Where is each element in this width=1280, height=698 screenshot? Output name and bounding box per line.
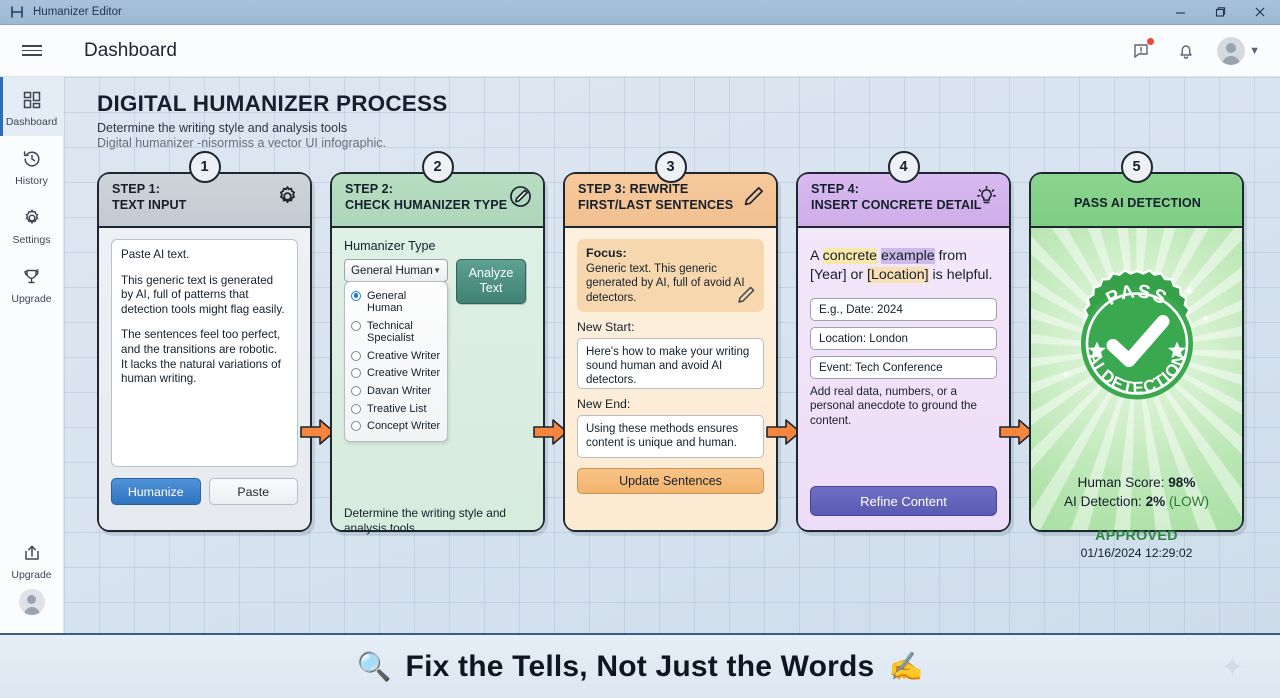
analyze-text-button[interactable]: Analyze Text xyxy=(456,259,526,304)
step-number-badge: 5 xyxy=(1121,151,1153,183)
sparkle-icon: ✦ xyxy=(1221,650,1244,683)
step-card-4: 4 STEP 4: INSERT CONCRETE DETAIL A concr… xyxy=(796,172,1011,532)
para-part: is helpful. xyxy=(929,267,993,283)
approval-block: APPROVED 01/16/2024 12:29:02 xyxy=(1031,528,1242,560)
radio-label: Treative List xyxy=(367,403,427,416)
window-title: Humanizer Editor xyxy=(33,6,122,18)
step-card-2: 2 STEP 2: CHECK HUMANIZER TYPE Humanizer… xyxy=(330,172,545,532)
input-line: The sentences feel too perfect, and the … xyxy=(121,328,280,356)
detail-field-date[interactable]: E.g., Date: 2024 xyxy=(810,298,997,321)
hamburger-icon[interactable] xyxy=(0,25,64,77)
pencil-icon[interactable] xyxy=(741,184,767,210)
focus-text: Generic text. This generic generated by … xyxy=(586,262,755,305)
step-5-body: ✦ ✦ ✦ xyxy=(1031,228,1242,530)
score-block: Human Score: 98% AI Detection: 2% (LOW) xyxy=(1031,473,1242,511)
new-start-field[interactable]: Here's how to make your writing sound hu… xyxy=(577,338,764,389)
step-5-title: PASS AI DETECTION xyxy=(1074,196,1201,212)
infographic-title: DIGITAL HUMANIZER PROCESS xyxy=(97,91,447,117)
radio-icon xyxy=(351,321,361,331)
window-controls xyxy=(1160,0,1280,25)
avatar xyxy=(1217,37,1245,65)
ai-detection-value: 2% xyxy=(1146,494,1166,509)
human-score-value: 98% xyxy=(1168,475,1195,490)
step-3-title-line1: STEP 3: REWRITE xyxy=(578,182,765,198)
bell-icon[interactable] xyxy=(1173,38,1199,64)
sidebar-item-upgrade-bottom[interactable]: Upgrade xyxy=(0,530,64,589)
analyze-label-line2: Text xyxy=(457,281,525,296)
radio-option[interactable]: Concept Writer xyxy=(351,418,441,436)
radio-label: Technical Specialist xyxy=(367,320,441,345)
step-number-badge: 3 xyxy=(655,151,687,183)
sidebar-item-label: Upgrade xyxy=(11,293,51,305)
radio-label: Creative Writer xyxy=(367,350,440,363)
step-4-body: A concrete example from [Year] or [Locat… xyxy=(798,228,1009,530)
input-line: It lacks the natural variations of human… xyxy=(121,358,281,386)
gear-icon[interactable] xyxy=(275,184,301,210)
highlight-location: [Location] xyxy=(867,267,929,283)
status-badge: APPROVED xyxy=(1031,528,1242,544)
step-1-title-line1: STEP 1: xyxy=(112,182,299,198)
input-paragraph: This generic text is generated by AI, fu… xyxy=(121,274,288,318)
grid-icon xyxy=(22,88,42,112)
step-1-body: Paste AI text. This generic text is gene… xyxy=(99,228,310,530)
pass-seal: PASS AI DETECTION xyxy=(1057,264,1217,429)
humanizer-type-select[interactable]: General Human ▼ xyxy=(344,259,448,282)
humanizer-type-label: Humanizer Type xyxy=(344,239,531,253)
paste-button[interactable]: Paste xyxy=(209,478,299,505)
step-2-note: Determine the writing style and analysis… xyxy=(344,506,531,535)
lightbulb-icon[interactable] xyxy=(974,184,1000,210)
step-3-body: Focus: Generic text. This generic genera… xyxy=(565,228,776,530)
step-card-3: 3 STEP 3: REWRITE FIRST/LAST SENTENCES F… xyxy=(563,172,778,532)
new-end-field[interactable]: Using these methods ensures content is u… xyxy=(577,415,764,458)
infographic-canvas: DIGITAL HUMANIZER PROCESS Determine the … xyxy=(64,77,1280,633)
chevron-down-icon: ▼ xyxy=(433,266,441,275)
new-end-label: New End: xyxy=(577,397,764,411)
radio-label: Creative Writer xyxy=(367,367,440,380)
update-sentences-button[interactable]: Update Sentences xyxy=(577,468,764,494)
step-2-body: Humanizer Type General Human ▼ General H… xyxy=(332,228,543,530)
radio-icon xyxy=(351,404,361,414)
title-bar: Humanizer Editor xyxy=(0,0,1280,25)
radio-option[interactable]: Davan Writer xyxy=(351,383,441,401)
maximize-button[interactable] xyxy=(1200,0,1240,25)
step-2-title-line2: CHECK HUMANIZER TYPE xyxy=(345,198,532,214)
upload-icon xyxy=(22,541,42,565)
writing-hand-icon: ✍️ xyxy=(888,650,923,683)
sidebar-item-label: Settings xyxy=(13,234,51,246)
bottom-banner: 🔍 Fix the Tells, Not Just the Words ✍️ ✦ xyxy=(0,633,1280,698)
step-1-title-line2: TEXT INPUT xyxy=(112,198,299,214)
message-icon[interactable] xyxy=(1129,38,1155,64)
app-logo-icon xyxy=(9,5,24,20)
focus-title: Focus: xyxy=(586,246,755,260)
sidebar-item-label: Dashboard xyxy=(6,116,57,128)
para-part: A xyxy=(810,248,823,264)
step-1-actions: Humanize Paste xyxy=(111,478,298,505)
sidebar-avatar[interactable] xyxy=(19,589,45,615)
detail-field-location[interactable]: Location: London xyxy=(810,327,997,350)
radio-option[interactable]: Technical Specialist xyxy=(351,317,441,347)
radio-option[interactable]: Treative List xyxy=(351,400,441,418)
radio-icon xyxy=(351,386,361,396)
gear-icon xyxy=(22,206,42,230)
radio-label: Concept Writer xyxy=(367,420,440,433)
sidebar-item-settings[interactable]: Settings xyxy=(0,195,64,254)
new-start-label: New Start: xyxy=(577,320,764,334)
radio-icon xyxy=(351,368,361,378)
select-value: General Human xyxy=(351,264,433,277)
highlight-concrete: concrete xyxy=(823,248,877,264)
radio-icon xyxy=(351,291,361,301)
step-number-badge: 2 xyxy=(422,151,454,183)
minimize-button[interactable] xyxy=(1160,0,1200,25)
ai-detection-label: AI Detection: xyxy=(1064,494,1142,509)
infographic-caption: Digital humanizer -nisormiss a vector UI… xyxy=(97,136,447,150)
humanize-button[interactable]: Humanize xyxy=(111,478,201,505)
app-window: Humanizer Editor Dashboard xyxy=(0,0,1280,698)
sidebar-item-label: Upgrade xyxy=(11,569,51,581)
sidebar: Dashboard History Settings xyxy=(0,77,64,633)
sidebar-item-history[interactable]: History xyxy=(0,136,64,195)
radio-option[interactable]: Creative Writer xyxy=(351,365,441,383)
radio-option[interactable]: Creative Writer xyxy=(351,347,441,365)
step-card-5: 5 PASS AI DETECTION ✦ ✦ ✦ xyxy=(1029,172,1244,532)
approval-timestamp: 01/16/2024 12:29:02 xyxy=(1031,546,1242,560)
step-2-title-line1: STEP 2: xyxy=(345,182,532,198)
sidebar-item-upgrade[interactable]: Upgrade xyxy=(0,254,64,313)
step-4-title-line2: INSERT CONCRETE DETAIL xyxy=(811,198,998,214)
sidebar-item-dashboard[interactable]: Dashboard xyxy=(0,77,64,136)
highlight-example: example xyxy=(881,248,935,264)
humanizer-type-options[interactable]: General Human Technical Specialist Creat… xyxy=(344,281,448,442)
chevron-down-icon: ▼ xyxy=(1249,45,1260,57)
step-4-note: Add real data, numbers, or a personal an… xyxy=(810,385,997,428)
sidebar-item-label: History xyxy=(15,175,48,187)
magnifier-icon: 🔍 xyxy=(357,650,392,683)
ai-detection-level: (LOW) xyxy=(1169,494,1209,509)
detail-field-event[interactable]: Event: Tech Conference xyxy=(810,356,997,379)
refine-content-button[interactable]: Refine Content xyxy=(810,486,997,516)
text-input-area[interactable]: Paste AI text. This generic text is gene… xyxy=(111,239,298,467)
app-header: Dashboard ▼ xyxy=(0,25,1280,77)
edit-circle-icon[interactable] xyxy=(508,184,534,210)
step-card-1: 1 STEP 1: TEXT INPUT Paste AI text. This… xyxy=(97,172,312,532)
ai-detection-row: AI Detection: 2% (LOW) xyxy=(1031,492,1242,511)
human-score-label: Human Score: xyxy=(1078,475,1165,490)
step-number-badge: 1 xyxy=(189,151,221,183)
human-score-row: Human Score: 98% xyxy=(1031,473,1242,492)
humanizer-type-row: General Human ▼ General Human Technical … xyxy=(344,259,531,442)
header-icons: ▼ xyxy=(1129,37,1280,65)
infographic-heading: DIGITAL HUMANIZER PROCESS Determine the … xyxy=(97,91,447,150)
radio-option[interactable]: General Human xyxy=(351,287,441,317)
step-4-paragraph: A concrete example from [Year] or [Locat… xyxy=(810,247,997,285)
input-paragraph: Paste AI text. xyxy=(121,248,288,263)
history-icon xyxy=(22,147,42,171)
user-menu[interactable]: ▼ xyxy=(1217,37,1260,65)
radio-icon xyxy=(351,351,361,361)
radio-icon xyxy=(351,421,361,431)
pencil-icon[interactable] xyxy=(735,284,757,306)
radio-label: Davan Writer xyxy=(367,385,431,398)
step-4-title-line1: STEP 4: xyxy=(811,182,998,198)
step-number-badge: 4 xyxy=(888,151,920,183)
notification-badge xyxy=(1146,37,1155,46)
infographic-subtitle: Determine the writing style and analysis… xyxy=(97,121,447,135)
input-paragraph: The sentences feel too perfect, and the … xyxy=(121,328,288,386)
analyze-label-line1: Analyze xyxy=(457,266,525,281)
step-3-title-line2: FIRST/LAST SENTENCES xyxy=(578,198,765,214)
radio-label: General Human xyxy=(367,290,441,315)
page-title: Dashboard xyxy=(84,40,177,62)
banner-text: Fix the Tells, Not Just the Words xyxy=(406,650,875,684)
trophy-icon xyxy=(22,265,42,289)
focus-box: Focus: Generic text. This generic genera… xyxy=(577,239,764,312)
close-button[interactable] xyxy=(1240,0,1280,25)
